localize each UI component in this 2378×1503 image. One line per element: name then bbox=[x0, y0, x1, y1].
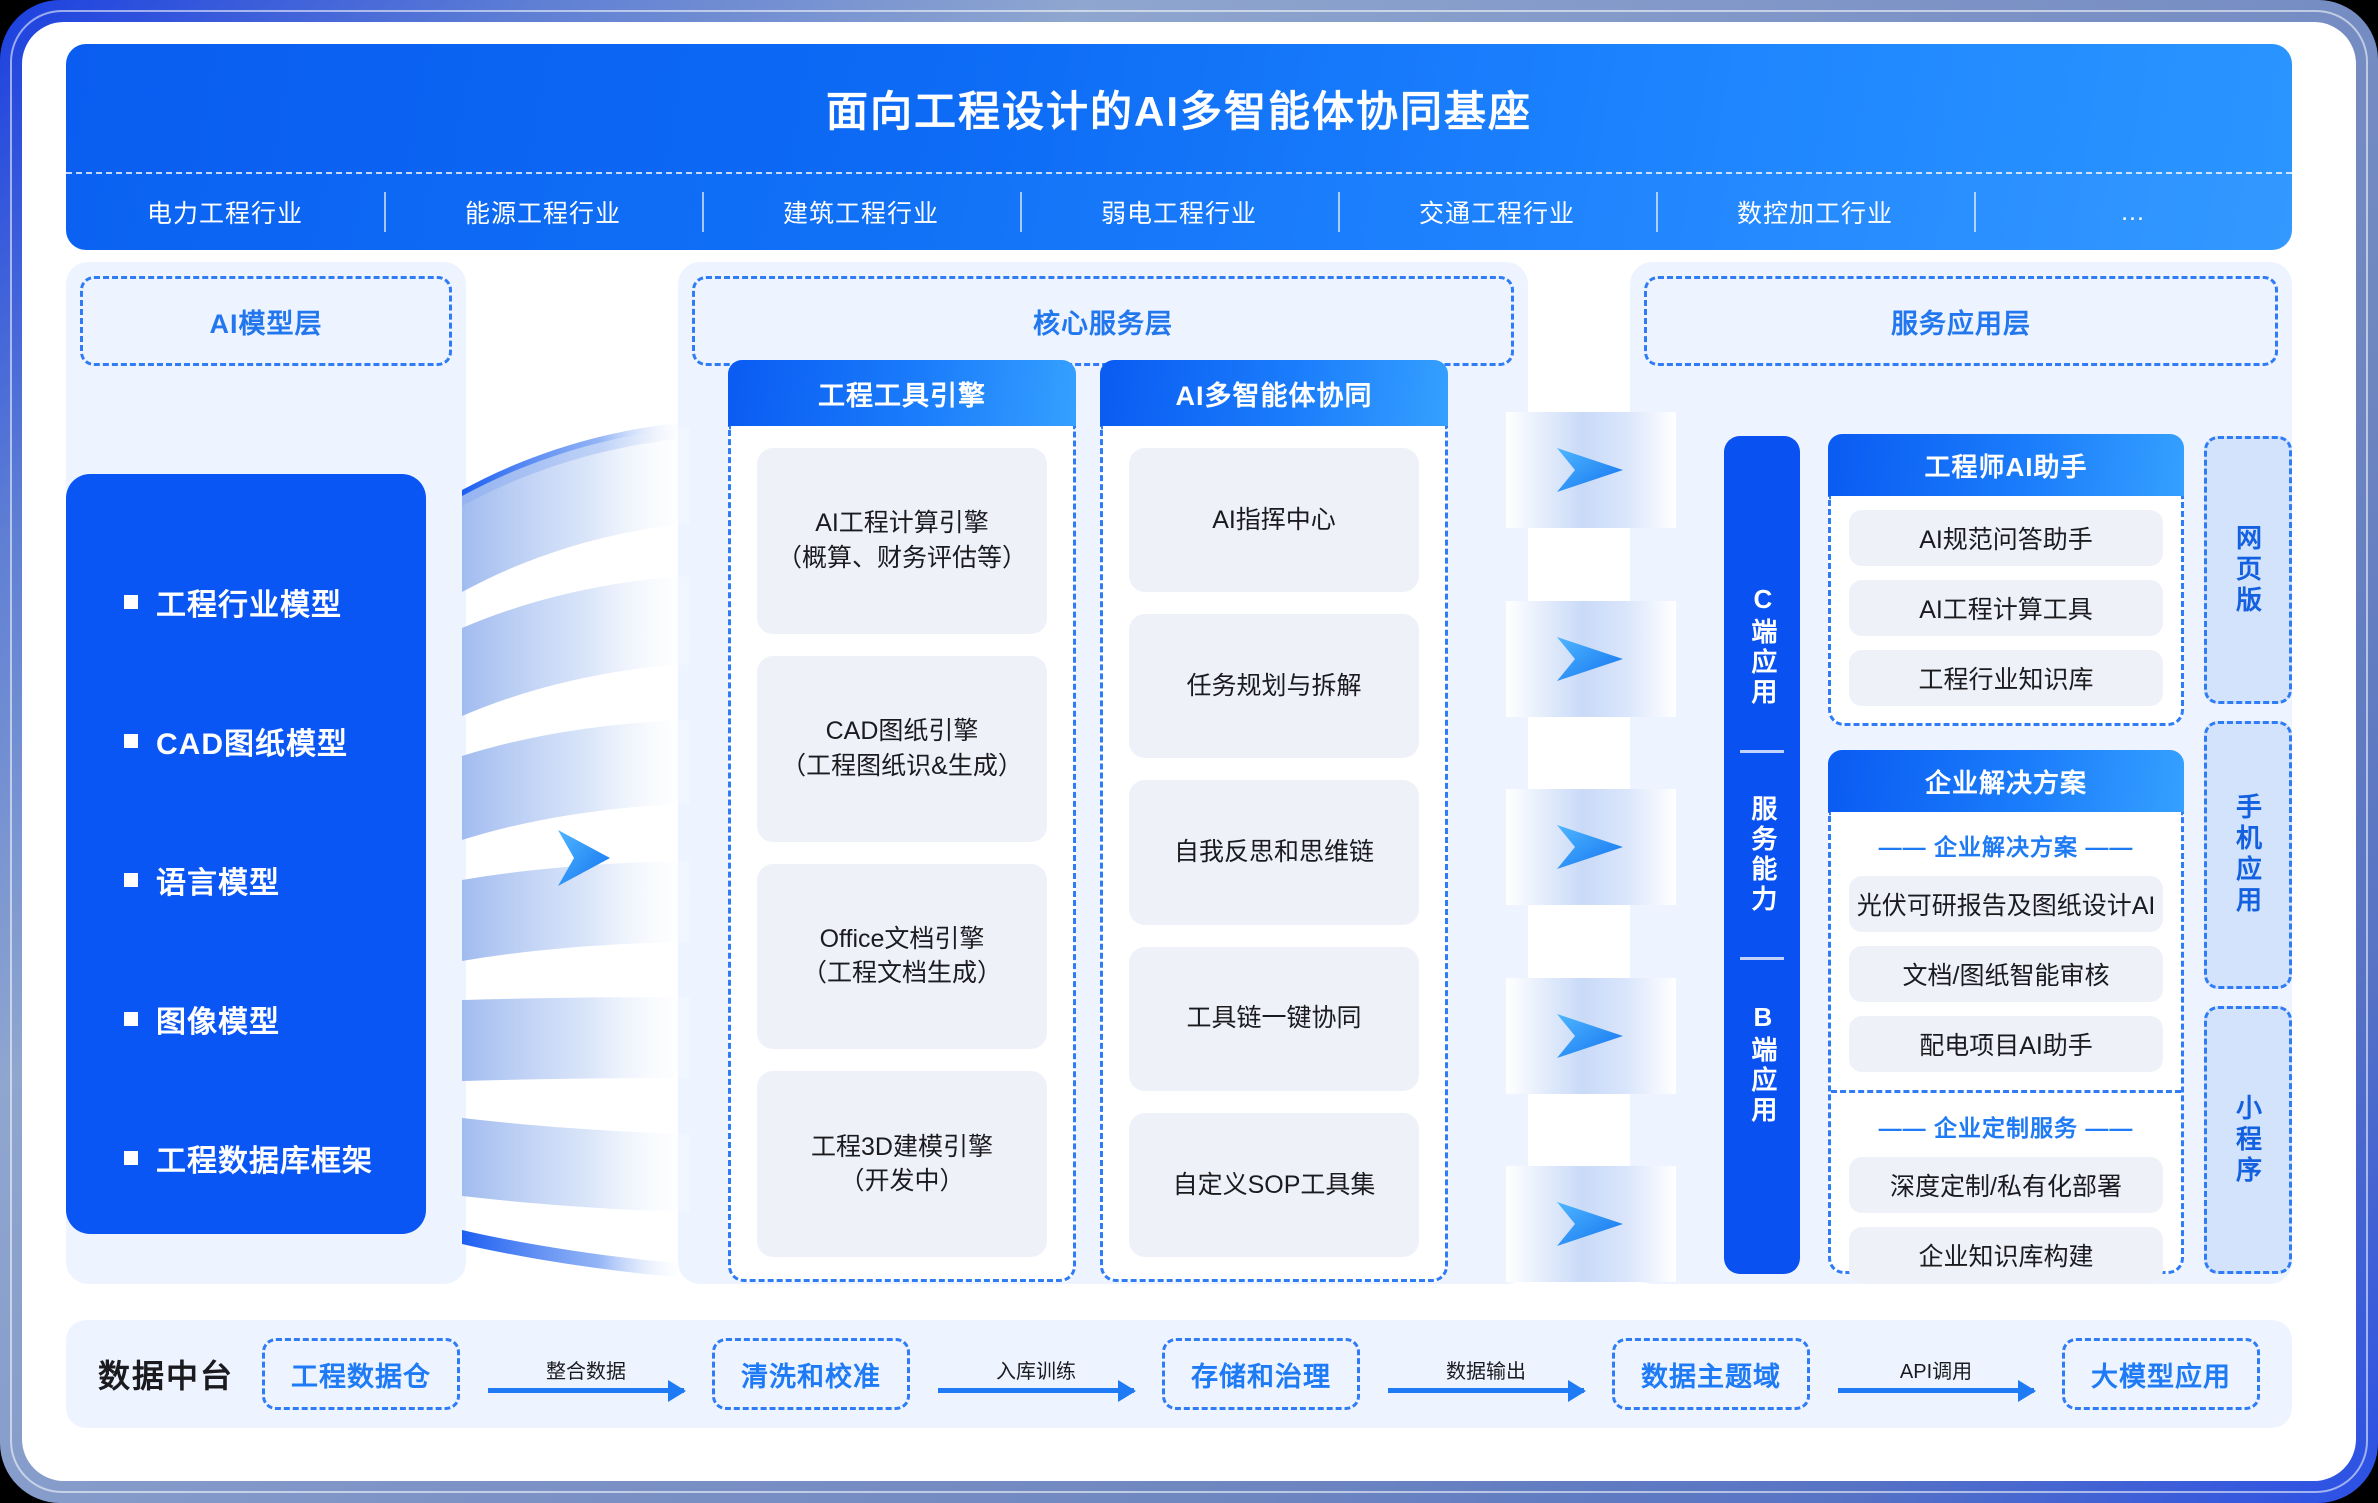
data-flow: 工程数据仓 整合数据 清洗和校准 入库训练 存储和治理 数据输出 数据主题域 A… bbox=[262, 1338, 2260, 1410]
model-item-image[interactable]: 图像模型 bbox=[124, 949, 426, 1088]
engineering-tool-engine-title: 工程工具引擎 bbox=[728, 360, 1076, 426]
custom-item-deep-deploy[interactable]: 深度定制/私有化部署 bbox=[1849, 1157, 2163, 1213]
solution-item-distribution[interactable]: 配电项目AI助手 bbox=[1849, 1016, 2163, 1072]
tool-engine-item-office[interactable]: Office文档引擎 （工程文档生成） bbox=[757, 864, 1047, 1050]
assistant-item-calc-tool[interactable]: AI工程计算工具 bbox=[1849, 580, 2163, 636]
arrow-band-5 bbox=[1506, 1166, 1676, 1282]
solution-group-label: —— 企业解决方案 —— bbox=[1849, 828, 2163, 862]
item-line-2: （工程图纸识&生成） bbox=[781, 749, 1023, 784]
flow-arrow-1: 整合数据 bbox=[460, 1338, 712, 1410]
chevron-right-icon bbox=[1553, 446, 1629, 494]
bullet-icon bbox=[124, 595, 138, 609]
flow-arrow-4: API调用 bbox=[1810, 1338, 2062, 1410]
chevron-right-icon bbox=[1553, 1200, 1629, 1248]
model-item-database[interactable]: 工程数据库框架 bbox=[124, 1088, 426, 1227]
diagram-canvas: 面向工程设计的AI多智能体协同基座 电力工程行业 能源工程行业 建筑工程行业 弱… bbox=[22, 22, 2356, 1481]
arrow-right-icon bbox=[938, 1388, 1135, 1393]
ai-model-layer-title: AI模型层 bbox=[80, 276, 452, 366]
tab-industry-power[interactable]: 电力工程行业 bbox=[66, 194, 384, 230]
wave-connector-left bbox=[462, 412, 707, 1282]
agent-item-task-planning[interactable]: 任务规划与拆解 bbox=[1129, 614, 1419, 758]
channel-miniprogram[interactable]: 小程序 bbox=[2204, 1006, 2292, 1274]
tool-engine-item-calc[interactable]: AI工程计算引擎 （概算、财务评估等） bbox=[757, 448, 1047, 634]
arrow-right-icon bbox=[488, 1388, 685, 1393]
item-line-2: （概算、财务评估等） bbox=[777, 541, 1027, 576]
channel-label: 小程序 bbox=[2230, 1094, 2267, 1187]
multi-agent-collab-title: AI多智能体协同 bbox=[1100, 360, 1448, 426]
engineer-ai-assistant-title: 工程师AI助手 bbox=[1828, 434, 2184, 496]
custom-item-kb-build[interactable]: 企业知识库构建 bbox=[1849, 1227, 2163, 1283]
item-line-1: 自定义SOP工具集 bbox=[1173, 1168, 1376, 1203]
diagram-header: 面向工程设计的AI多智能体协同基座 bbox=[66, 44, 2292, 172]
tool-engine-item-cad[interactable]: CAD图纸引擎 （工程图纸识&生成） bbox=[757, 656, 1047, 842]
bullet-icon bbox=[124, 1151, 138, 1165]
item-line-1: Office文档引擎 bbox=[820, 922, 985, 957]
divider bbox=[1740, 957, 1784, 960]
tool-engine-item-3d[interactable]: 工程3D建模引擎 （开发中） bbox=[757, 1071, 1047, 1257]
enterprise-solution-card: 企业解决方案 —— 企业解决方案 —— 光伏可研报告及图纸设计AI 文档/图纸智… bbox=[1828, 812, 2184, 1274]
agent-item-self-reflection[interactable]: 自我反思和思维链 bbox=[1129, 780, 1419, 924]
assistant-item-knowledge[interactable]: 工程行业知识库 bbox=[1849, 650, 2163, 706]
item-line-1: 任务规划与拆解 bbox=[1186, 669, 1361, 704]
divider bbox=[1740, 750, 1784, 753]
flow-arrow-label: 数据输出 bbox=[1446, 1355, 1526, 1384]
item-line-2: （工程文档生成） bbox=[802, 956, 1002, 991]
solution-item-doc-review[interactable]: 文档/图纸智能审核 bbox=[1849, 946, 2163, 1002]
flow-node-llm-app[interactable]: 大模型应用 bbox=[2062, 1338, 2260, 1410]
ai-model-card: 工程行业模型 CAD图纸模型 语言模型 图像模型 工程数据库框架 bbox=[66, 474, 426, 1234]
item-line-1: 工具链一键协同 bbox=[1186, 1001, 1361, 1036]
flow-arrow-3: 数据输出 bbox=[1360, 1338, 1612, 1410]
model-item-language[interactable]: 语言模型 bbox=[124, 810, 426, 949]
engineering-tool-engine-column: 工程工具引擎 AI工程计算引擎 （概算、财务评估等） CAD图纸引擎 （工程图纸… bbox=[728, 426, 1076, 1282]
bullet-icon bbox=[124, 734, 138, 748]
multi-agent-collab-column: AI多智能体协同 AI指挥中心 任务规划与拆解 自我反思和思维链 工具链一键协同… bbox=[1100, 426, 1448, 1282]
channel-web[interactable]: 网页版 bbox=[2204, 436, 2292, 704]
data-platform-bar: 数据中台 工程数据仓 整合数据 清洗和校准 入库训练 存储和治理 数据输出 数据… bbox=[66, 1320, 2292, 1428]
industry-tabbar: 电力工程行业 能源工程行业 建筑工程行业 弱电工程行业 交通工程行业 数控加工行… bbox=[66, 172, 2292, 250]
bullet-icon bbox=[124, 1012, 138, 1026]
flow-node-storage[interactable]: 存储和治理 bbox=[1162, 1338, 1360, 1410]
item-line-1: CAD图纸引擎 bbox=[826, 714, 979, 749]
tab-industry-cnc[interactable]: 数控加工行业 bbox=[1656, 194, 1974, 230]
channel-label: 手机应用 bbox=[2230, 793, 2267, 917]
item-line-2: （开发中） bbox=[839, 1164, 964, 1199]
arrow-band-1 bbox=[1506, 412, 1676, 528]
model-item-industry[interactable]: 工程行业模型 bbox=[124, 532, 426, 671]
arrow-band-2 bbox=[1506, 601, 1676, 717]
flow-node-subject-domain[interactable]: 数据主题域 bbox=[1612, 1338, 1810, 1410]
agent-item-toolchain[interactable]: 工具链一键协同 bbox=[1129, 947, 1419, 1091]
chevron-right-icon bbox=[1553, 635, 1629, 683]
item-line-1: 自我反思和思维链 bbox=[1174, 835, 1374, 870]
item-line-1: AI指挥中心 bbox=[1212, 503, 1336, 538]
model-item-label: 工程数据库框架 bbox=[156, 1136, 373, 1180]
flow-arrow-label: API调用 bbox=[1900, 1355, 1972, 1384]
agent-item-command-center[interactable]: AI指挥中心 bbox=[1129, 448, 1419, 592]
assistant-item-qa[interactable]: AI规范问答助手 bbox=[1849, 510, 2163, 566]
page-title: 面向工程设计的AI多智能体协同基座 bbox=[826, 78, 1532, 139]
flow-arrow-2: 入库训练 bbox=[910, 1338, 1162, 1410]
model-item-label: CAD图纸模型 bbox=[156, 719, 348, 763]
c-side-label: C端应用 bbox=[1746, 584, 1778, 708]
solution-separator bbox=[1831, 1090, 2181, 1093]
item-line-1: 工程3D建模引擎 bbox=[811, 1130, 993, 1165]
capability-label: 服务能力 bbox=[1746, 795, 1778, 915]
item-line-1: AI工程计算引擎 bbox=[815, 506, 989, 541]
bullet-icon bbox=[124, 873, 138, 887]
channel-mobile-app[interactable]: 手机应用 bbox=[2204, 721, 2292, 989]
diagram-outer-frame: 面向工程设计的AI多智能体协同基座 电力工程行业 能源工程行业 建筑工程行业 弱… bbox=[0, 0, 2378, 1503]
tab-industry-building[interactable]: 建筑工程行业 bbox=[702, 194, 1020, 230]
b-side-label: B端应用 bbox=[1746, 1002, 1778, 1126]
chevron-right-icon bbox=[1553, 823, 1629, 871]
data-platform-title: 数据中台 bbox=[98, 1351, 234, 1397]
flow-arrow-label: 入库训练 bbox=[996, 1355, 1076, 1384]
capability-vertical-bar: C端应用 服务能力 B端应用 bbox=[1724, 436, 1800, 1274]
flow-node-data-warehouse[interactable]: 工程数据仓 bbox=[262, 1338, 460, 1410]
arrow-connector-right bbox=[1506, 412, 1676, 1282]
tab-industry-energy[interactable]: 能源工程行业 bbox=[384, 194, 702, 230]
solution-item-pv-report[interactable]: 光伏可研报告及图纸设计AI bbox=[1849, 876, 2163, 932]
agent-item-custom-sop[interactable]: 自定义SOP工具集 bbox=[1129, 1113, 1419, 1257]
arrow-right-icon bbox=[1838, 1388, 2035, 1393]
channel-column: 网页版 手机应用 小程序 bbox=[2204, 436, 2292, 1274]
core-service-layer-title: 核心服务层 bbox=[692, 276, 1514, 366]
model-item-label: 工程行业模型 bbox=[156, 580, 342, 624]
model-item-label: 图像模型 bbox=[156, 997, 280, 1041]
chevron-right-icon bbox=[1553, 1012, 1629, 1060]
model-item-cad[interactable]: CAD图纸模型 bbox=[124, 671, 426, 810]
tab-industry-lowvoltage[interactable]: 弱电工程行业 bbox=[1020, 194, 1338, 230]
tab-industry-more[interactable]: ... bbox=[1974, 198, 2292, 227]
enterprise-solution-title: 企业解决方案 bbox=[1828, 750, 2184, 812]
model-item-label: 语言模型 bbox=[156, 858, 280, 902]
flow-node-cleaning[interactable]: 清洗和校准 bbox=[712, 1338, 910, 1410]
custom-service-group-label: —— 企业定制服务 —— bbox=[1849, 1109, 2163, 1143]
flow-arrow-label: 整合数据 bbox=[546, 1355, 626, 1384]
tab-industry-transport[interactable]: 交通工程行业 bbox=[1338, 194, 1656, 230]
engineer-ai-assistant-card: 工程师AI助手 AI规范问答助手 AI工程计算工具 工程行业知识库 bbox=[1828, 496, 2184, 726]
arrow-band-3 bbox=[1506, 789, 1676, 905]
arrow-right-icon bbox=[1388, 1388, 1585, 1393]
arrow-band-4 bbox=[1506, 978, 1676, 1094]
service-app-layer-title: 服务应用层 bbox=[1644, 276, 2278, 366]
channel-label: 网页版 bbox=[2230, 524, 2267, 617]
wave-stripes-icon bbox=[462, 412, 707, 1282]
